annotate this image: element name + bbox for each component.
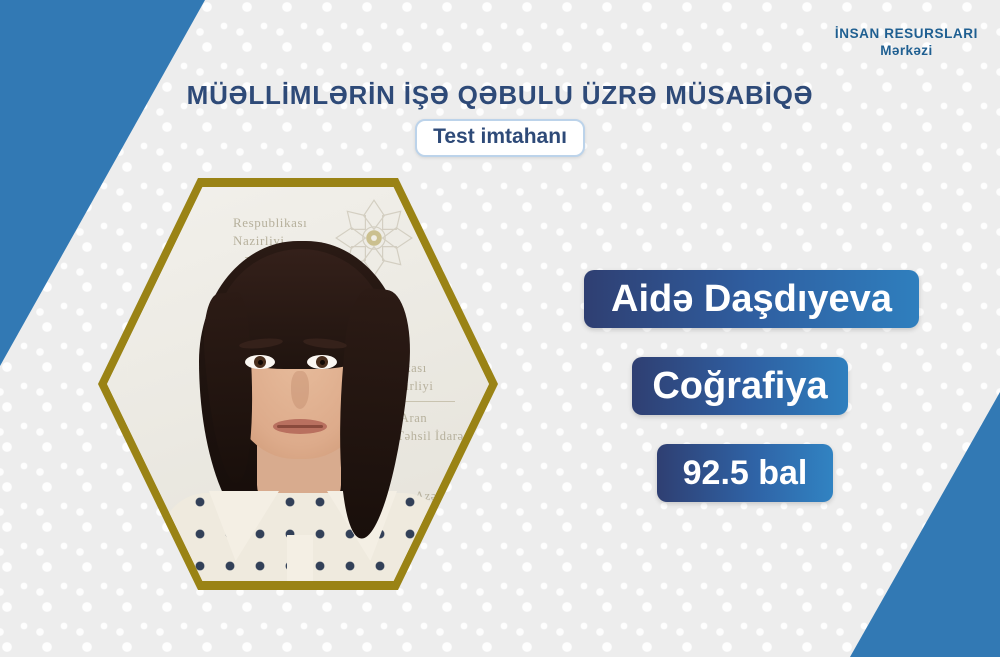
shirt-placket [287,535,313,581]
organization-logo: İNSAN RESURSLARI Mərkəzi [835,26,978,60]
subtitle-container: Test imtahanı [0,119,1000,157]
poster-canvas: İNSAN RESURSLARI Mərkəzi MÜƏLLİMLƏRİN İŞ… [0,0,1000,657]
mouth [273,419,327,434]
iris-left [254,356,266,368]
logo-line-1: İNSAN RESURSLARI [835,26,978,43]
candidate-name-badge: Aidə Daşdıyeva [584,270,919,328]
page-title: MÜƏLLİMLƏRİN İŞƏ QƏBULU ÜZRƏ MÜSABİQƏ [0,80,1000,111]
nose [291,371,309,409]
candidate-portrait [151,219,451,581]
eye-right [307,355,337,369]
logo-line-2: Mərkəzi [835,43,978,60]
candidate-score-badge: 92.5 bal [657,444,833,502]
exam-type-badge: Test imtahanı [415,119,585,157]
candidate-subject-badge: Coğrafiya [632,357,848,415]
iris-right [316,356,328,368]
eye-left [245,355,275,369]
